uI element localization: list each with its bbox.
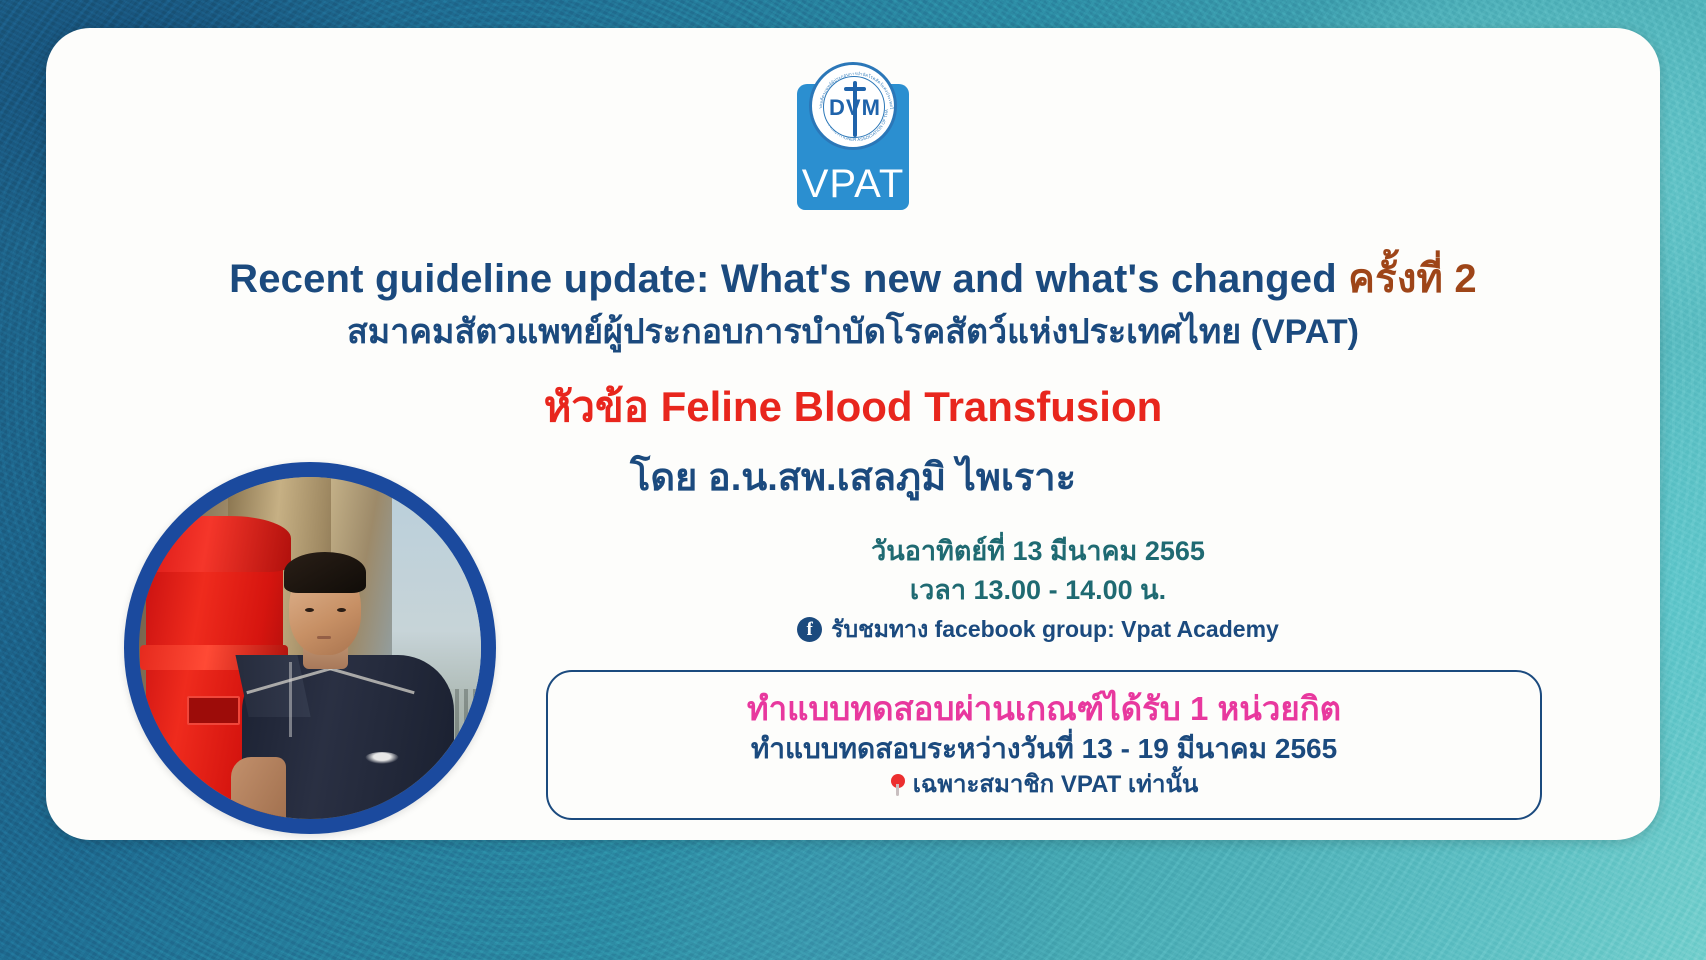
- vpat-logo: VPAT สมาคมสัตวแพทย์ผู้ประกอบการบำบัดโรคส…: [797, 62, 909, 210]
- page-title-line1: Recent guideline update: What's new and …: [46, 256, 1660, 302]
- title-english: Recent guideline update: What's new and …: [229, 257, 1337, 301]
- logo-dvm-text: DVM: [824, 97, 886, 119]
- portrait-placket: [289, 662, 292, 737]
- schedule-block: วันอาทิตย์ที่ 13 มีนาคม 2565 เวลา 13.00 …: [476, 532, 1600, 647]
- poster-canvas: VPAT สมาคมสัตวแพทย์ผู้ประกอบการบำบัดโรคส…: [0, 0, 1706, 960]
- page-title-line2: สมาคมสัตวแพทย์ผู้ประกอบการบำบัดโรคสัตว์แ…: [46, 312, 1660, 353]
- logo-seal-inner-circle: DVM: [823, 76, 885, 138]
- facebook-icon: f: [797, 617, 822, 642]
- portrait-mouth: [317, 636, 331, 639]
- logo-seal: สมาคมสัตวแพทย์ผู้ประกอบการบำบัดโรคสัตว์แ…: [809, 62, 897, 150]
- speaker-portrait: [124, 462, 496, 834]
- event-time: เวลา 13.00 - 14.00 น.: [476, 571, 1600, 610]
- credit-info-box: ทำแบบทดสอบผ่านเกณฑ์ได้รับ 1 หน่วยกิต ทำแ…: [546, 670, 1542, 820]
- event-date: วันอาทิตย์ที่ 13 มีนาคม 2565: [476, 532, 1600, 571]
- portrait-eye-left: [305, 608, 314, 612]
- portrait-arm: [231, 757, 286, 819]
- topic-title: หัวข้อ Feline Blood Transfusion: [46, 382, 1660, 432]
- credit-eligibility: เฉพาะสมาชิก VPAT เท่านั้น: [890, 768, 1199, 802]
- broadcast-channel-label: รับชมทาง facebook group: Vpat Academy: [831, 612, 1279, 647]
- portrait-hair: [284, 552, 366, 593]
- map-pin-icon: [890, 774, 906, 796]
- speaker-portrait-image: [139, 477, 481, 819]
- broadcast-channel[interactable]: f รับชมทาง facebook group: Vpat Academy: [476, 612, 1600, 647]
- poster-card: VPAT สมาคมสัตวแพทย์ผู้ประกอบการบำบัดโรคส…: [46, 28, 1660, 840]
- portrait-postbox-slot: [187, 696, 240, 725]
- credit-headline: ทำแบบทดสอบผ่านเกณฑ์ได้รับ 1 หน่วยกิต: [747, 688, 1341, 730]
- credit-eligibility-label: เฉพาะสมาชิก VPAT เท่านั้น: [913, 768, 1199, 802]
- logo-wordmark: VPAT: [797, 164, 909, 204]
- title-thai-accent: ครั้งที่ 2: [1348, 257, 1477, 301]
- credit-period: ทำแบบทดสอบระหว่างวันที่ 13 - 19 มีนาคม 2…: [751, 730, 1337, 768]
